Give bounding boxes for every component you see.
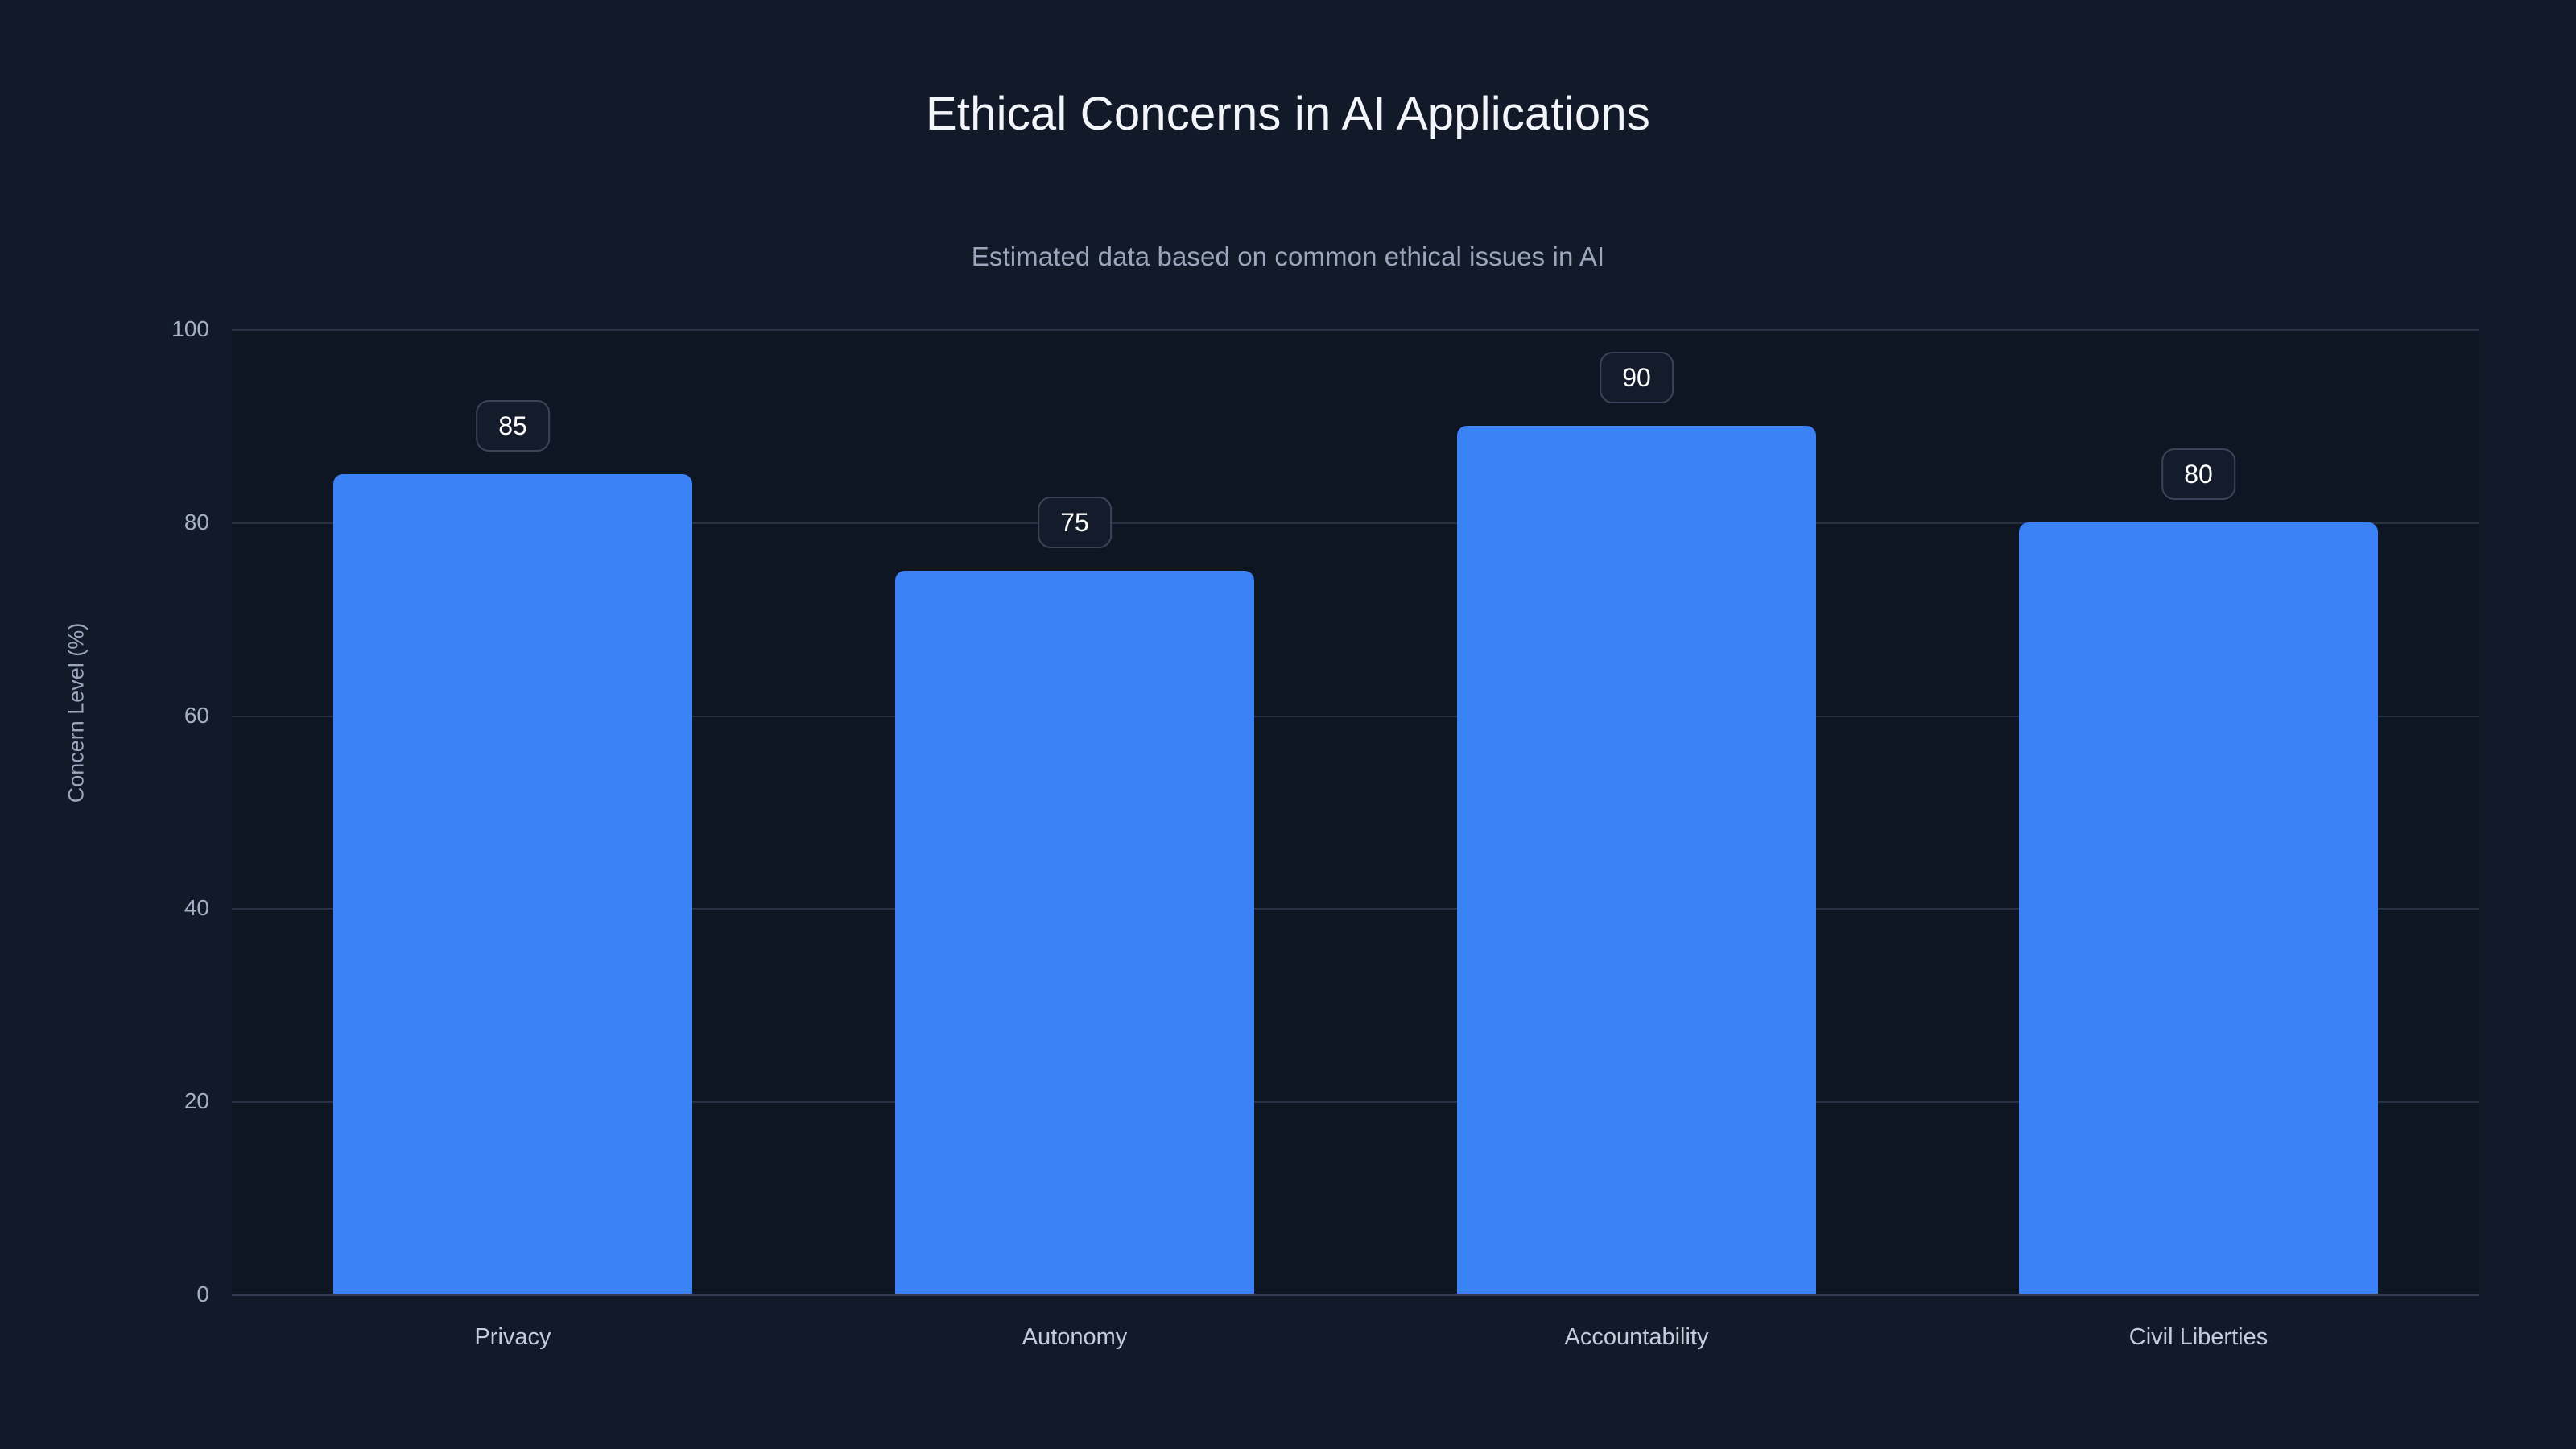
chart-title: Ethical Concerns in AI Applications — [0, 89, 2576, 140]
y-axis-tick-label: 80 — [64, 510, 209, 535]
chart-page: Ethical Concerns in AI Applications Esti… — [0, 0, 2576, 1449]
bar-value-label: 85 — [476, 400, 550, 452]
bar[interactable] — [1457, 426, 1815, 1294]
y-axis-tick-label: 40 — [64, 895, 209, 921]
y-axis-tick-label: 0 — [64, 1282, 209, 1307]
bar-value-label: 80 — [2161, 448, 2235, 500]
y-axis-tick-label: 60 — [64, 703, 209, 729]
bar-value-label: 90 — [1600, 352, 1674, 403]
x-axis-category-label: Autonomy — [1022, 1324, 1128, 1351]
y-axis-tick-label: 100 — [64, 316, 209, 342]
gridline — [232, 329, 2479, 331]
bar[interactable] — [2019, 522, 2377, 1294]
plot-area — [232, 329, 2479, 1294]
bar-value-label: 75 — [1038, 497, 1112, 548]
x-axis-category-label: Accountability — [1565, 1324, 1709, 1351]
x-axis-line — [232, 1294, 2479, 1296]
x-axis-category-label: Civil Liberties — [2129, 1324, 2268, 1351]
chart-subtitle: Estimated data based on common ethical i… — [0, 242, 2576, 272]
bar[interactable] — [895, 571, 1253, 1294]
y-axis-tick-label: 20 — [64, 1088, 209, 1114]
bar[interactable] — [333, 474, 691, 1294]
x-axis-category-label: Privacy — [474, 1324, 551, 1351]
